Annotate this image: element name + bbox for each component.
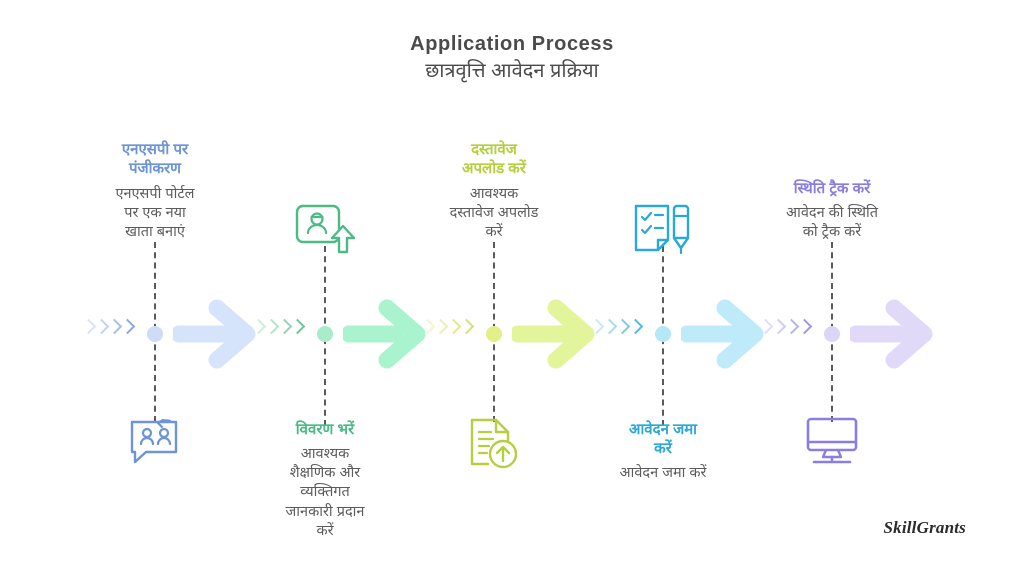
chevron-group-5: [760, 321, 810, 332]
title-block: Application Process छात्रवृत्ति आवेदन प्…: [0, 32, 1024, 85]
profile-card-upload-icon: [295, 202, 355, 256]
step-1-body-line-1: एनएसपी पोर्टल: [50, 185, 260, 204]
timeline-node-2[interactable]: [317, 326, 333, 342]
step-1-heading-line-1: एनएसपी पर: [50, 140, 260, 159]
step-5-icon-wrap: [727, 416, 937, 466]
step-5-body-line-1: आवेदन की स्थिति: [727, 204, 937, 223]
flow-arrow-3-icon: [512, 292, 602, 376]
step-1-heading-line-2: पंजीकरण: [50, 159, 260, 178]
flow-arrow-5-icon: [850, 292, 940, 376]
step-5-heading-line-1: स्थिति ट्रैक करें: [727, 179, 937, 198]
step-2-body-line-3: व्यक्तिगत: [220, 483, 430, 502]
desktop-monitor-icon: [804, 416, 860, 466]
flow-arrow-4-icon: [681, 292, 771, 376]
step-1-heading: एनएसपी पर पंजीकरण: [50, 140, 260, 178]
chevron-group-1: [83, 321, 133, 332]
document-upload-icon: [466, 416, 522, 472]
step-2-body-line-5: करें: [220, 522, 430, 541]
step-5-heading: स्थिति ट्रैक करें: [727, 179, 937, 198]
step-3-body-line-1: आवश्यक: [389, 185, 599, 204]
step-3-heading: दस्तावेज अपलोड करें: [389, 140, 599, 178]
chat-bubble-two-users-icon: [126, 416, 184, 468]
checklist-pen-icon: [632, 202, 694, 256]
flow-arrow-1-icon: [173, 292, 263, 376]
step-5-body: आवेदन की स्थिति को ट्रैक करें: [727, 204, 937, 242]
chevron-group-2: [253, 321, 303, 332]
page-title-english: Application Process: [0, 32, 1024, 57]
page-title-hindi: छात्रवृत्ति आवेदन प्रक्रिया: [0, 58, 1024, 85]
step-2-body-line-4: जानकारी प्रदान: [220, 503, 430, 522]
brand-logo: SkillGrants: [883, 518, 966, 538]
timeline-node-5[interactable]: [824, 326, 840, 342]
step-4-body: आवेदन जमा करें: [558, 464, 768, 483]
flow-arrow-2-icon: [343, 292, 433, 376]
step-3-heading-line-1: दस्तावेज: [389, 140, 599, 159]
chevron-group-3: [422, 321, 472, 332]
step-5-body-line-2: को ट्रैक करें: [727, 223, 937, 242]
step-5-label: स्थिति ट्रैक करें आवेदन की स्थिति को ट्र…: [727, 179, 937, 242]
timeline-node-1[interactable]: [147, 326, 163, 342]
step-4-body-line-1: आवेदन जमा करें: [558, 464, 768, 483]
timeline-node-4[interactable]: [655, 326, 671, 342]
step-3-heading-line-2: अपलोड करें: [389, 159, 599, 178]
timeline-node-3[interactable]: [486, 326, 502, 342]
chevron-group-4: [591, 321, 641, 332]
